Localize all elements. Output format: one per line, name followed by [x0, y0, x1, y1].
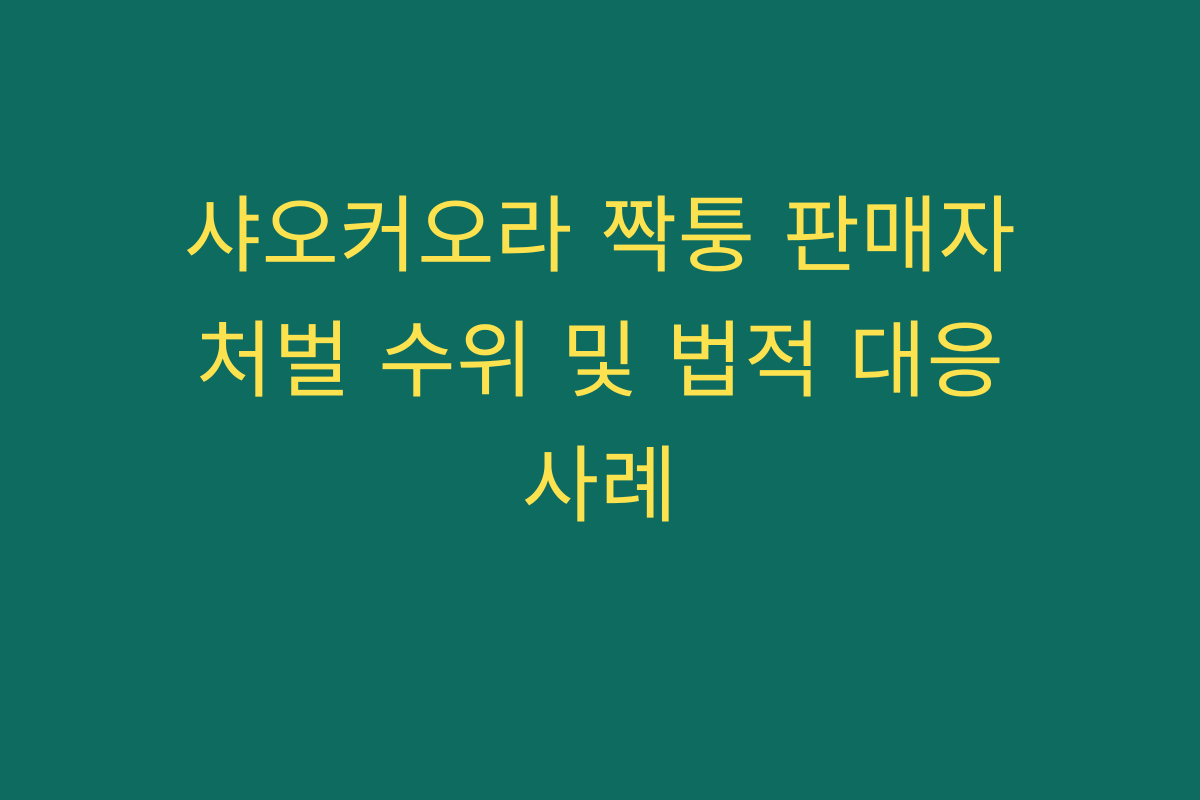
headline-line-1: 샤오커오라 짝퉁 판매자 — [184, 174, 1016, 299]
thumbnail-card: 샤오커오라 짝퉁 판매자 처벌 수위 및 법적 대응 사례 — [0, 0, 1200, 800]
headline-block: 샤오커오라 짝퉁 판매자 처벌 수위 및 법적 대응 사례 — [50, 174, 1150, 549]
headline-line-3: 사례 — [522, 424, 679, 549]
headline-line-2: 처벌 수위 및 법적 대응 — [196, 299, 1005, 424]
